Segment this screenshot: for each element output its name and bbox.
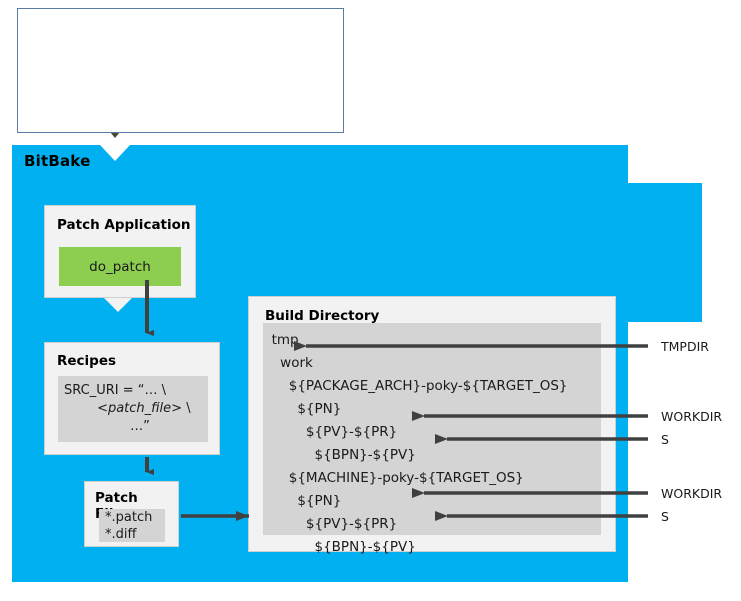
annotation-label-s-2: S [661, 509, 669, 524]
annotation-label-workdir-2: WORKDIR [661, 486, 722, 501]
diagram-canvas: Upstream Project Releases Local Projects… [0, 0, 741, 601]
diagram-arrows-layer [0, 0, 741, 601]
annotation-label-tmpdir: TMPDIR [661, 339, 709, 354]
annotation-label-workdir-1: WORKDIR [661, 409, 722, 424]
annotation-label-s-1: S [661, 432, 669, 447]
